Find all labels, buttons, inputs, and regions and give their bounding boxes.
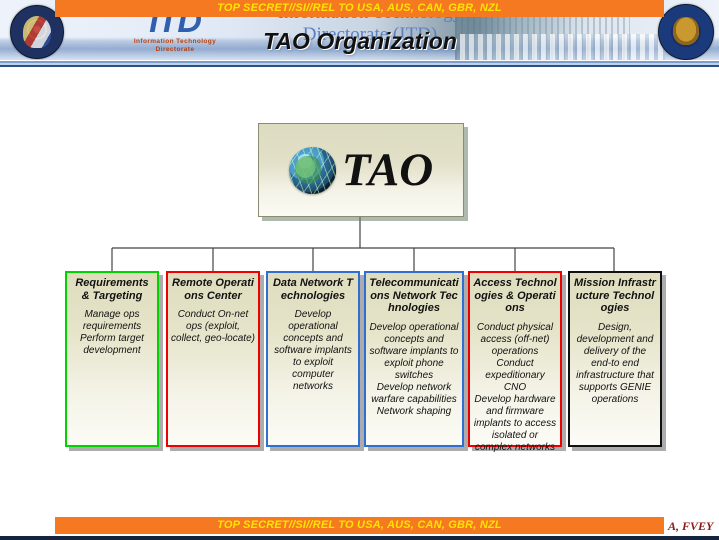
node-body: Develop operational concepts and softwar… xyxy=(271,309,355,393)
org-chart: TAO Requirements & Targeting Manage ops … xyxy=(0,68,719,508)
header-divider-rule xyxy=(0,60,719,68)
node-title: Requirements & Targeting xyxy=(70,277,154,302)
org-node-tao-root[interactable]: TAO xyxy=(258,123,464,217)
org-node-access-technologies-operations[interactable]: Access Technologies & Operations Conduct… xyxy=(468,271,562,447)
node-title: Access Technologies & Operations xyxy=(473,277,557,315)
tao-root-label: TAO xyxy=(342,147,433,194)
classification-fragment-right: A, FVEY xyxy=(668,519,713,534)
globe-icon xyxy=(289,147,336,194)
nsa-seal-icon xyxy=(658,4,714,60)
classification-banner-bottom: TOP SECRET//SI//REL TO USA, AUS, CAN, GB… xyxy=(55,517,664,534)
org-node-telecommunications-network-technologies[interactable]: Telecommunications Network Technologies … xyxy=(364,271,464,447)
node-body: Design, development and delivery of the … xyxy=(573,322,657,406)
tao-root-content: TAO xyxy=(289,147,433,194)
org-node-mission-infrastructure-technologies[interactable]: Mission Infrastructure Technologies Desi… xyxy=(568,271,662,447)
org-node-remote-operations-center[interactable]: Remote Operations Center Conduct On-net … xyxy=(166,271,260,447)
node-body: Conduct physical access (off-net) operat… xyxy=(473,322,557,454)
footer-divider-rule xyxy=(0,536,719,540)
org-node-requirements-targeting[interactable]: Requirements & Targeting Manage ops requ… xyxy=(65,271,159,447)
org-node-data-network-technologies[interactable]: Data Network Technologies Develop operat… xyxy=(266,271,360,447)
node-title: Mission Infrastructure Technologies xyxy=(573,277,657,315)
classification-banner-top: TOP SECRET//SI//REL TO USA, AUS, CAN, GB… xyxy=(55,0,664,17)
node-title: Telecommunications Network Technologies xyxy=(369,277,459,315)
node-title: Data Network Technologies xyxy=(271,277,355,302)
node-title: Remote Operations Center xyxy=(171,277,255,302)
node-body: Manage ops requirements Perform target d… xyxy=(70,309,154,357)
page-title: TAO Organization xyxy=(150,28,570,55)
node-body: Conduct On-net ops (exploit, collect, ge… xyxy=(171,309,255,345)
node-body: Develop operational concepts and softwar… xyxy=(369,322,459,418)
